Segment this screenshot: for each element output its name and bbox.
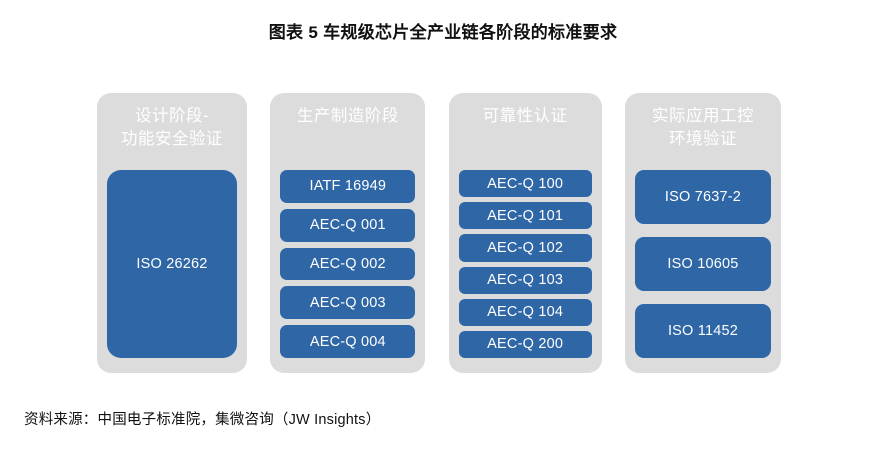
stage-header-line-2: 环境验证	[635, 128, 771, 151]
stage-panel-reliability: 可靠性认证 AEC-Q 100 AEC-Q 101 AEC-Q 102 AEC-…	[449, 93, 602, 373]
stage-header-design: 设计阶段- 功能安全验证	[107, 105, 237, 151]
standard-box[interactable]: AEC-Q 001	[280, 209, 415, 242]
stage-header-manufacturing: 生产制造阶段	[280, 105, 415, 128]
stage-header-line-1: 生产制造阶段	[280, 105, 415, 128]
stage-header-line-1: 实际应用工控	[635, 105, 771, 128]
standard-box[interactable]: AEC-Q 002	[280, 248, 415, 281]
standard-box[interactable]: AEC-Q 200	[459, 331, 592, 358]
standard-box[interactable]: ISO 26262	[107, 170, 237, 358]
stage-panel-application: 实际应用工控 环境验证 ISO 7637-2 ISO 10605 ISO 114…	[625, 93, 781, 373]
stage-panel-manufacturing: 生产制造阶段 IATF 16949 AEC-Q 001 AEC-Q 002 AE…	[270, 93, 425, 373]
stage-columns: 设计阶段- 功能安全验证 ISO 26262 生产制造阶段 IATF 16949…	[97, 93, 781, 373]
stage-items-design: ISO 26262	[107, 170, 237, 358]
page-title: 图表 5 车规级芯片全产业链各阶段的标准要求	[0, 18, 886, 43]
stage-items-manufacturing: IATF 16949 AEC-Q 001 AEC-Q 002 AEC-Q 003…	[280, 170, 415, 358]
stage-items-application: ISO 7637-2 ISO 10605 ISO 11452	[635, 170, 771, 358]
standard-box[interactable]: AEC-Q 103	[459, 267, 592, 294]
standard-box[interactable]: AEC-Q 100	[459, 170, 592, 197]
standard-box[interactable]: IATF 16949	[280, 170, 415, 203]
stage-header-line-2: 功能安全验证	[107, 128, 237, 151]
stage-header-line-1: 可靠性认证	[459, 105, 592, 128]
stage-header-line-1: 设计阶段-	[107, 105, 237, 128]
standard-box[interactable]: ISO 10605	[635, 237, 771, 291]
standard-box[interactable]: AEC-Q 101	[459, 202, 592, 229]
standard-box[interactable]: AEC-Q 004	[280, 325, 415, 358]
standard-box[interactable]: AEC-Q 102	[459, 234, 592, 261]
standard-box[interactable]: AEC-Q 003	[280, 286, 415, 319]
stage-panel-design: 设计阶段- 功能安全验证 ISO 26262	[97, 93, 247, 373]
standard-box[interactable]: AEC-Q 104	[459, 299, 592, 326]
standard-box[interactable]: ISO 7637-2	[635, 170, 771, 224]
source-note: 资料来源：中国电子标准院，集微咨询（JW Insights）	[24, 408, 380, 429]
standard-box[interactable]: ISO 11452	[635, 304, 771, 358]
stage-header-reliability: 可靠性认证	[459, 105, 592, 128]
stage-items-reliability: AEC-Q 100 AEC-Q 101 AEC-Q 102 AEC-Q 103 …	[459, 170, 592, 358]
stage-header-application: 实际应用工控 环境验证	[635, 105, 771, 151]
